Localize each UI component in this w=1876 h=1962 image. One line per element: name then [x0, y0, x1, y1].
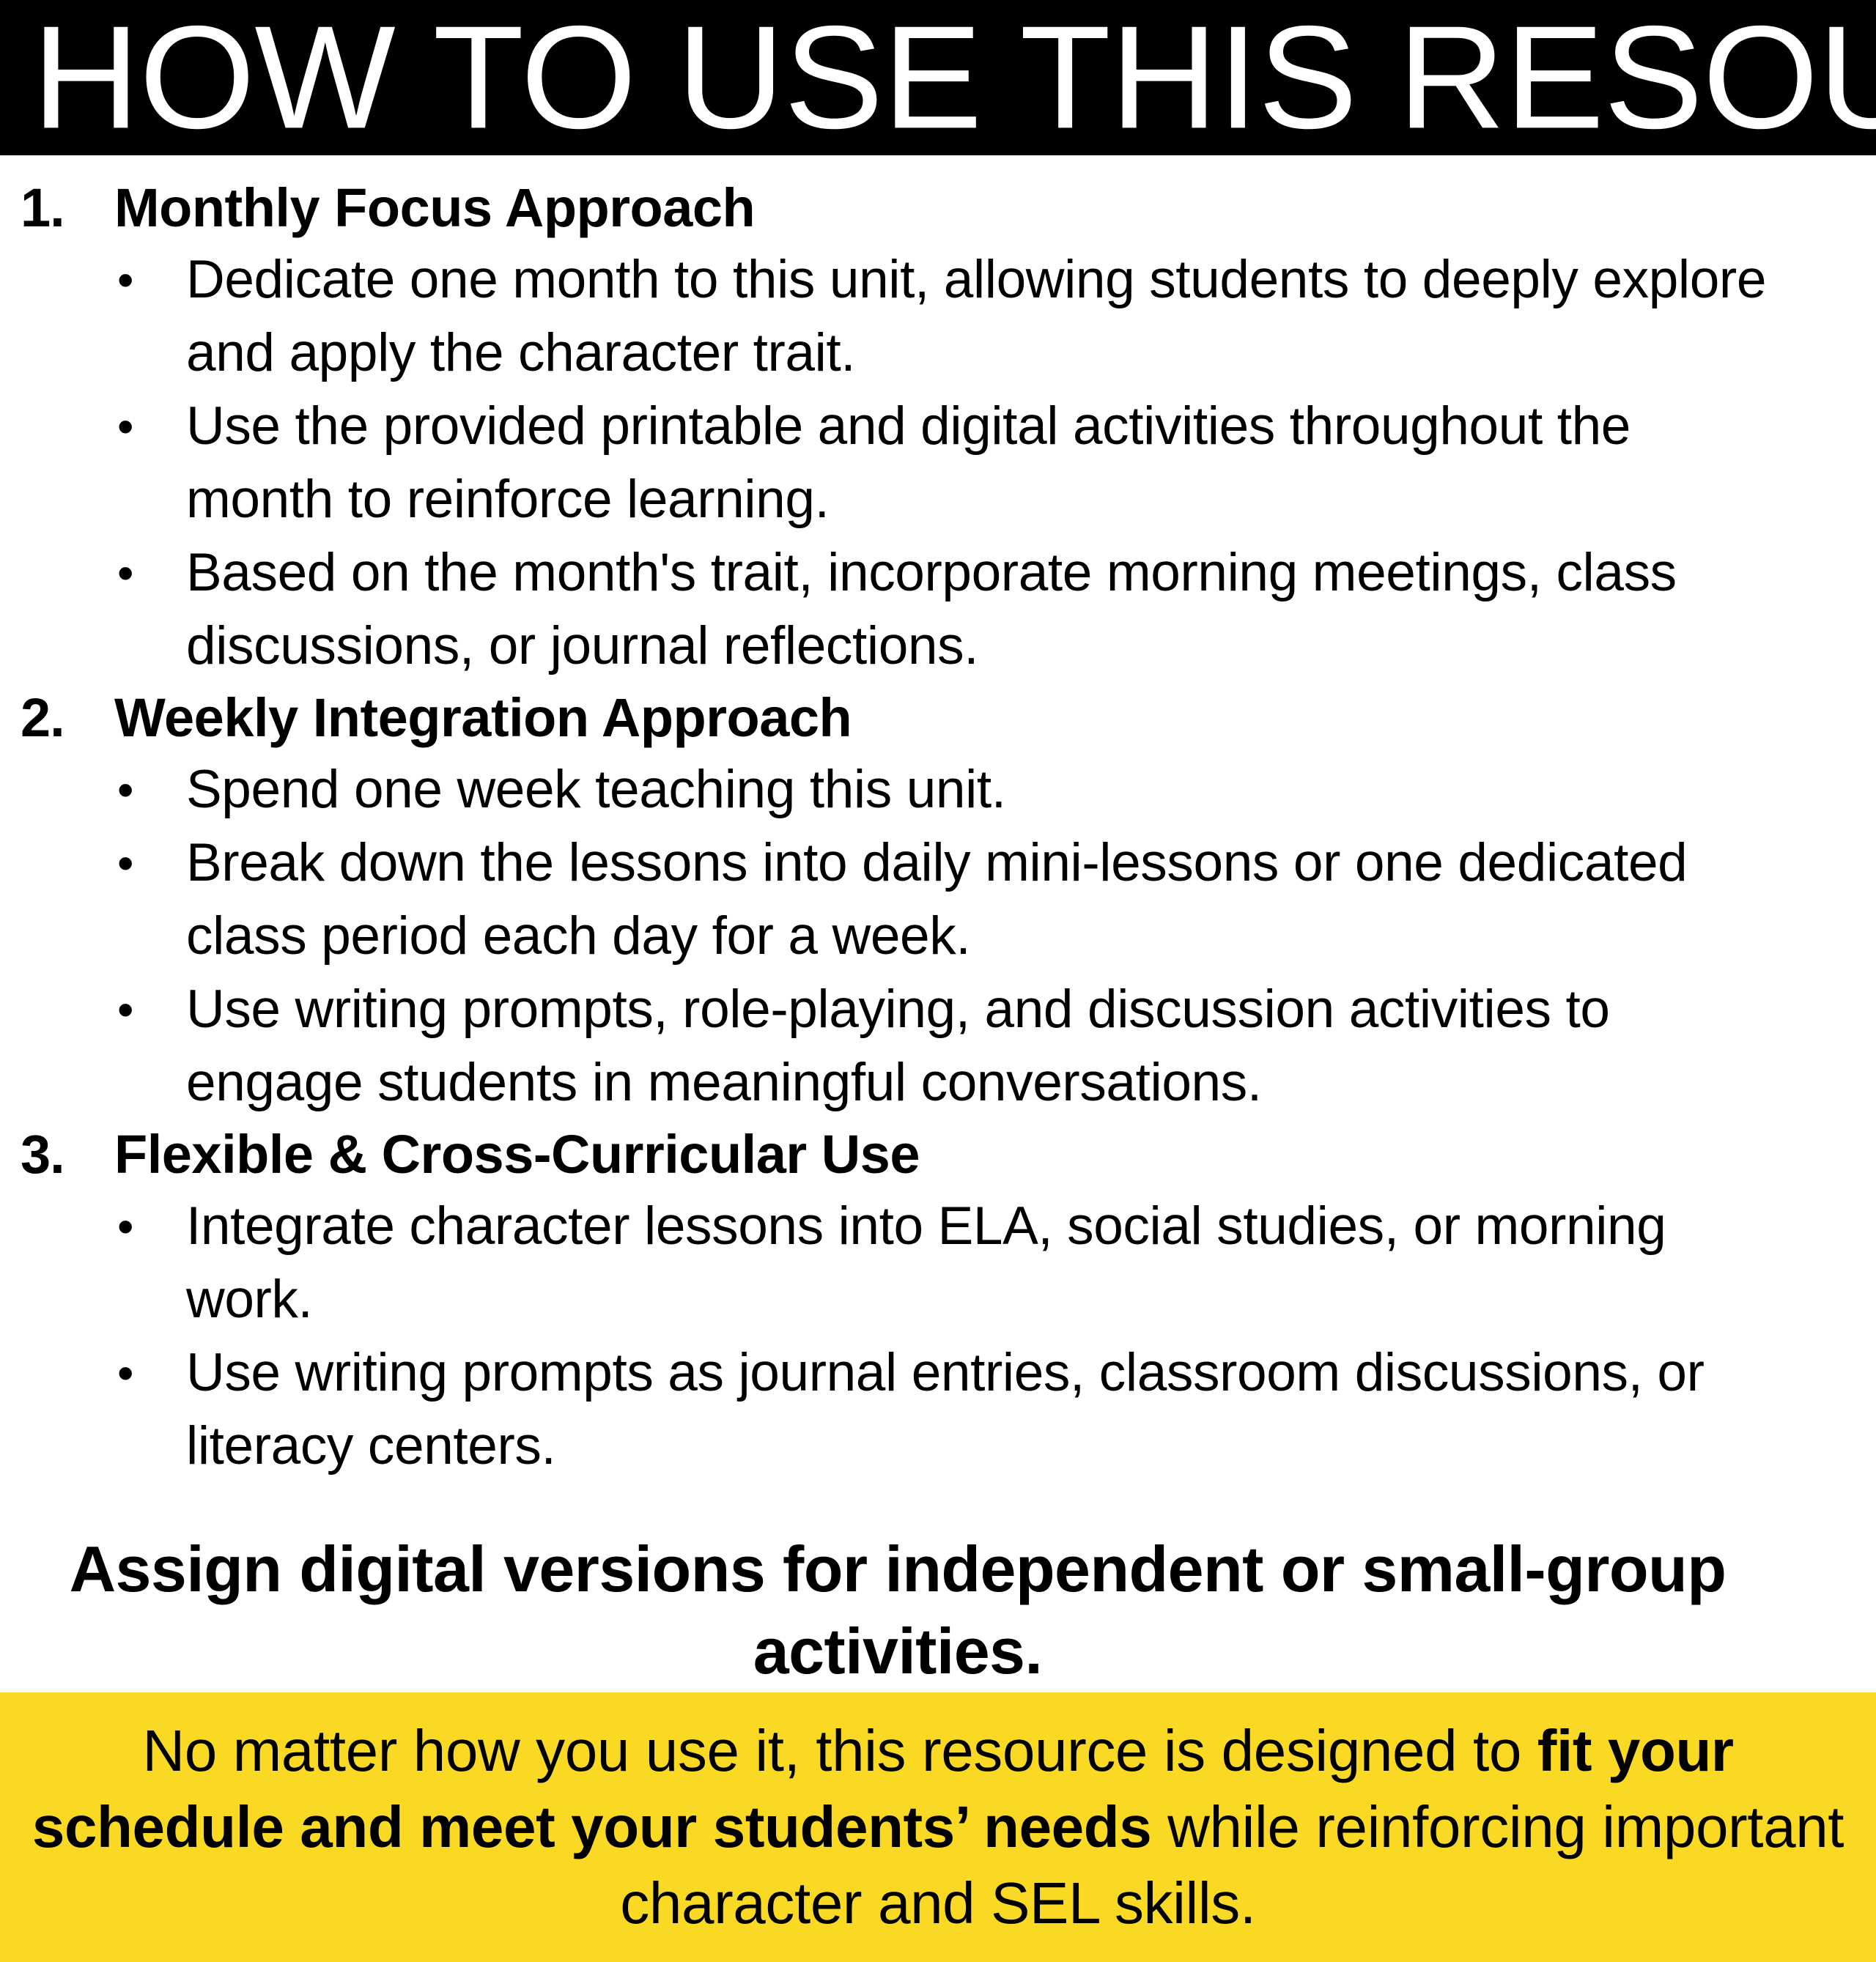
list-item-text: Integrate character lessons into ELA, so… — [186, 1190, 1795, 1336]
list-item: • Integrate character lessons into ELA, … — [21, 1190, 1795, 1336]
section-3-bullets: • Integrate character lessons into ELA, … — [21, 1190, 1795, 1483]
section-3-heading: Flexible & Cross-Curricular Use — [114, 1119, 920, 1190]
section-2-heading-row: 2. Weekly Integration Approach — [21, 683, 1795, 753]
list-item: • Break down the lessons into daily mini… — [21, 826, 1795, 973]
list-item: • Dedicate one month to this unit, allow… — [21, 243, 1795, 390]
section-1-heading: Monthly Focus Approach — [114, 173, 755, 243]
list-item-text: Based on the month's trait, incorporate … — [186, 536, 1795, 683]
list-item-text: Break down the lessons into daily mini-l… — [186, 826, 1795, 973]
section-2-heading: Weekly Integration Approach — [114, 683, 852, 753]
instructions-body: 1. Monthly Focus Approach • Dedicate one… — [0, 155, 1876, 1692]
bullet-icon: • — [117, 973, 186, 1046]
section-1-bullets: • Dedicate one month to this unit, allow… — [21, 243, 1795, 683]
bullet-icon: • — [117, 826, 186, 900]
callout-text: Assign digital versions for independent … — [21, 1528, 1795, 1692]
list-item-text: Use writing prompts, role-playing, and d… — [186, 973, 1795, 1119]
bullet-icon: • — [117, 1336, 186, 1410]
bullet-icon: • — [117, 390, 186, 463]
bullet-icon: • — [117, 753, 186, 826]
section-1-number: 1. — [21, 173, 114, 243]
list-item: • Spend one week teaching this unit. — [21, 753, 1795, 826]
section-1-heading-row: 1. Monthly Focus Approach — [21, 173, 1795, 243]
section-3-number: 3. — [21, 1119, 114, 1190]
list-item: • Based on the month's trait, incorporat… — [21, 536, 1795, 683]
list-item-text: Use the provided printable and digital a… — [186, 390, 1795, 536]
header-band: HOW TO USE THIS RESOURCE — [0, 0, 1876, 155]
section-2-number: 2. — [21, 683, 114, 753]
section-2-bullets: • Spend one week teaching this unit. • B… — [21, 753, 1795, 1119]
list-item: • Use writing prompts, role-playing, and… — [21, 973, 1795, 1119]
bullet-icon: • — [117, 536, 186, 610]
list-item-text: Use writing prompts as journal entries, … — [186, 1336, 1795, 1483]
page-title: HOW TO USE THIS RESOURCE — [0, 4, 1876, 151]
list-item-text: Dedicate one month to this unit, allowin… — [186, 243, 1795, 390]
resource-page: HOW TO USE THIS RESOURCE 1. Monthly Focu… — [0, 0, 1876, 1876]
bullet-icon: • — [117, 1190, 186, 1263]
list-item: • Use writing prompts as journal entries… — [21, 1336, 1795, 1483]
section-3-heading-row: 3. Flexible & Cross-Curricular Use — [21, 1119, 1795, 1190]
footer-text: No matter how you use it, this resource … — [16, 1713, 1860, 1941]
list-item: • Use the provided printable and digital… — [21, 390, 1795, 536]
footer-band: No matter how you use it, this resource … — [0, 1692, 1876, 1962]
footer-segment-1: No matter how you use it, this resource … — [142, 1718, 1537, 1783]
list-item-text: Spend one week teaching this unit. — [186, 753, 1795, 826]
bullet-icon: • — [117, 243, 186, 316]
